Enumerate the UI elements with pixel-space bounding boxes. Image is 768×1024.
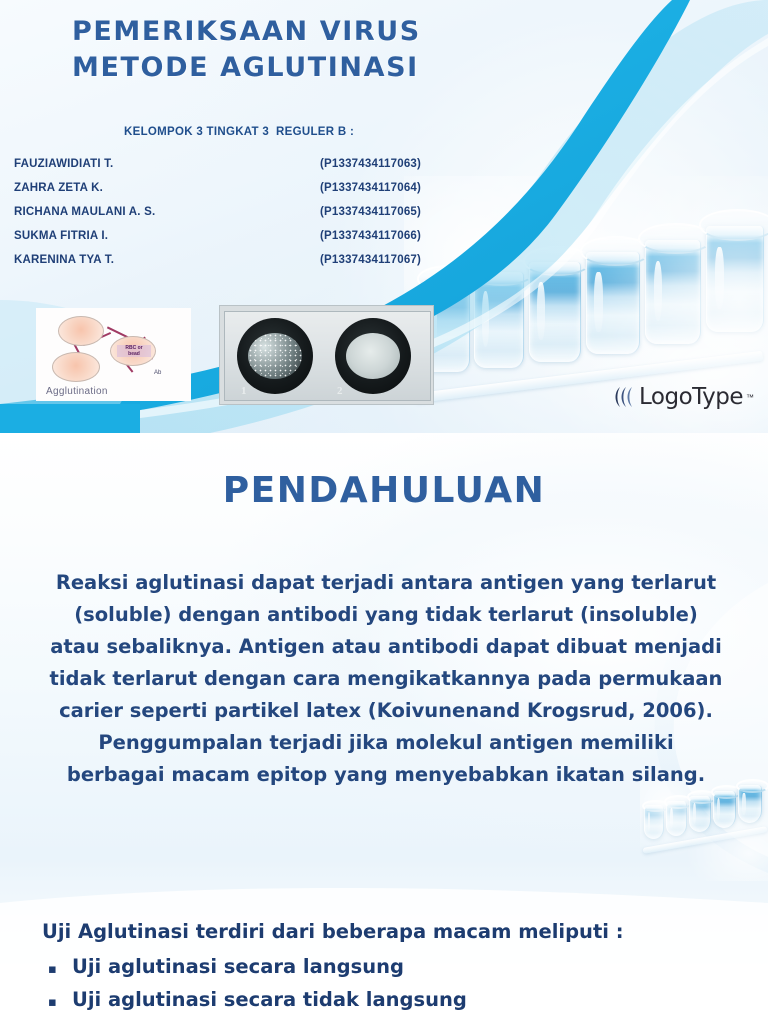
test-well-positive [237, 318, 313, 394]
list-intro-text: Uji Aglutinasi terdiri dari beberapa mac… [42, 920, 624, 943]
rbc-bead-label: RBC or bead [117, 345, 151, 357]
list-item: ▪ Uji aglutinasi secara tidak langsung [48, 988, 708, 1021]
glass-plate: 1 2 [224, 311, 431, 401]
member-nim: (P1337434117063) [320, 158, 421, 170]
list-item: ▪ Uji aglutinasi secara langsung [48, 955, 708, 988]
member-name: RICHANA MAULANI A. S. [14, 206, 214, 218]
trademark-symbol: ™ [746, 393, 754, 402]
member-name: ZAHRA ZETA K. [14, 182, 214, 194]
list-item: ZAHRA ZETA K. (P1337434117064) [14, 182, 444, 206]
slide-title-page: PEMERIKSAAN VIRUS METODE AGLUTINASI KELO… [0, 0, 768, 433]
red-blood-cell [58, 316, 104, 346]
page-title-line-2: METODE AGLUTINASI [72, 52, 419, 83]
member-list: FAUZIAWIDIATI T. (P1337434117063) ZAHRA … [14, 158, 444, 278]
square-bullet-icon: ▪ [48, 996, 72, 1009]
slide-test-photo: 1 2 [219, 305, 434, 405]
list-item-label: Uji aglutinasi secara tidak langsung [72, 988, 467, 1011]
member-nim: (P1337434117067) [320, 254, 421, 266]
list-item: SUKMA FITRIA I. (P1337434117066) [14, 230, 444, 254]
member-name: SUKMA FITRIA I. [14, 230, 214, 242]
section-heading: PENDAHULUAN [0, 470, 768, 511]
logotype-mark: LogoType ™ [610, 384, 754, 410]
well-label-1: 1 [241, 385, 247, 397]
well-smooth-content [346, 333, 400, 379]
list-item: KARENINA TYA T. (P1337434117067) [14, 254, 444, 278]
square-bullet-icon: ▪ [48, 963, 72, 976]
member-name: KARENINA TYA T. [14, 254, 214, 266]
member-nim: (P1337434117064) [320, 182, 421, 194]
list-item-label: Uji aglutinasi secara langsung [72, 955, 404, 978]
page-title-line-1: PEMERIKSAAN VIRUS [72, 16, 421, 47]
agglutination-types-list: ▪ Uji aglutinasi secara langsung ▪ Uji a… [48, 955, 708, 1021]
logotype-text: LogoType [639, 384, 743, 410]
agglutination-diagram-image: RBC or bead Ab Agglutination [36, 308, 191, 401]
antibody-label: Ab [154, 370, 161, 376]
group-subtitle: KELOMPOK 3 TINGKAT 3 REGULER B : [124, 126, 354, 138]
list-item: RICHANA MAULANI A. S. (P1337434117065) [14, 206, 444, 230]
presentation-deck: PEMERIKSAAN VIRUS METODE AGLUTINASI KELO… [0, 0, 768, 1024]
member-nim: (P1337434117065) [320, 206, 421, 218]
page-title: PEMERIKSAAN VIRUS METODE AGLUTINASI [72, 14, 492, 86]
well-label-2: 2 [337, 385, 343, 397]
rbc-bead-label-line-2: bead [128, 351, 140, 357]
figure-caption: Agglutination [46, 386, 108, 397]
body-paragraph: Reaksi aglutinasi dapat terjadi antara a… [48, 567, 724, 791]
member-name: FAUZIAWIDIATI T. [14, 158, 214, 170]
member-nim: (P1337434117066) [320, 230, 421, 242]
red-blood-cell [52, 352, 100, 382]
well-agglutinated-content [248, 333, 302, 379]
slide-pendahuluan: PENDAHULUAN Reaksi aglutinasi dapat terj… [0, 433, 768, 1024]
logo-swoosh-icon [610, 384, 636, 410]
list-item: FAUZIAWIDIATI T. (P1337434117063) [14, 158, 444, 182]
test-well-negative [335, 318, 411, 394]
red-blood-cell-labeled: RBC or bead [110, 336, 156, 366]
